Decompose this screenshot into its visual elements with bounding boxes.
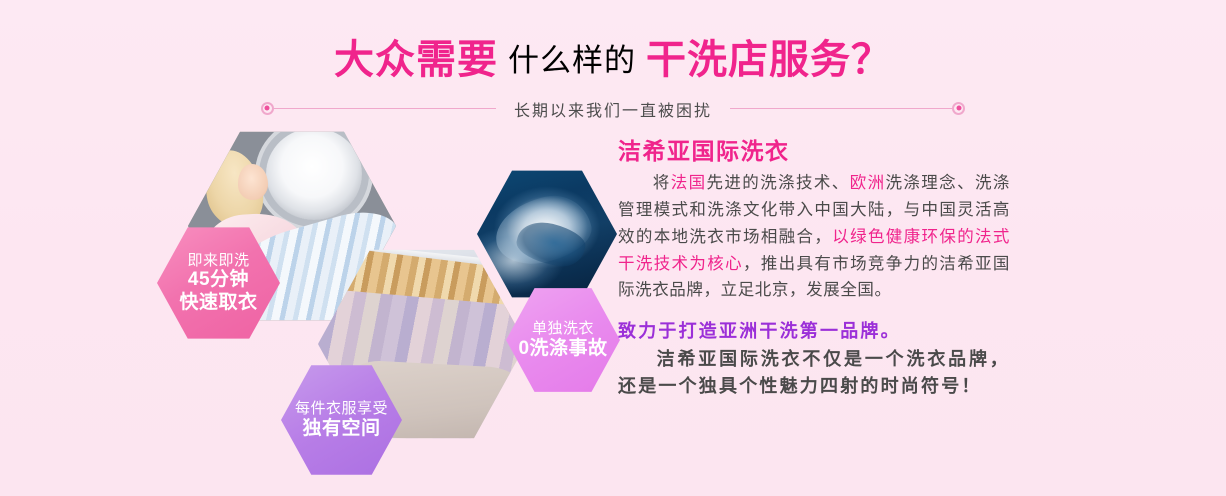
hex-label-fast-line2: 45分钟	[188, 269, 249, 291]
promo-banner: 大众需要什么样的干洗店服务？ 长期以来我们一直被困扰 即来即	[0, 0, 1226, 496]
child-face	[238, 164, 268, 200]
title-part-3: 干洗店服务？	[646, 38, 892, 82]
brand-description: 将法国先进的洗涤技术、欧洲洗涤理念、洗涤管理模式和洗涤文化带入中国大陆，与中国灵…	[618, 170, 1010, 304]
desc-seg-2: 先进的洗涤技术、	[707, 174, 850, 192]
circle-dot-icon	[952, 102, 965, 115]
content-column: 洁希亚国际洗衣 将法国先进的洗涤技术、欧洲洗涤理念、洗涤管理模式和洗涤文化带入中…	[618, 138, 1010, 400]
divider-line-right	[730, 108, 952, 109]
slogan-body-text: 洁希亚国际洗衣不仅是一个洗衣品牌，还是一个独具个性魅力四射的时尚符号！	[618, 349, 1010, 396]
hex-label-separate-wash[interactable]: 单独洗衣 0洗涤事故	[506, 286, 620, 394]
brand-title: 洁希亚国际洗衣	[618, 138, 1010, 164]
hex-label-fast-line3: 快速取衣	[179, 292, 257, 314]
hex-label-fast-line1: 即来即洗	[187, 252, 249, 270]
hex-label-space-line2: 独有空间	[302, 418, 380, 440]
hex-label-solo-line1: 单独洗衣	[532, 320, 594, 338]
hex-photo-fabric-in-water	[477, 168, 617, 300]
desc-highlight-europe: 欧洲	[850, 174, 886, 192]
hex-label-space-line1: 每件衣服享受	[295, 400, 388, 418]
desc-seg-1: 将	[652, 174, 671, 192]
hexagon-cluster: 即来即洗 45分钟 快速取衣 每件衣服享受 独有空间 单独洗衣 0洗涤事故	[0, 0, 640, 496]
desc-highlight-france: 法国	[671, 174, 707, 192]
hex-label-solo-line2: 0洗涤事故	[518, 338, 607, 360]
slogan-body: 洁希亚国际洗衣不仅是一个洗衣品牌，还是一个独具个性魅力四射的时尚符号！	[618, 346, 1010, 400]
washing-machine-door	[266, 128, 362, 220]
slogan-heading: 致力于打造亚洲干洗第一品牌。	[618, 320, 1010, 343]
